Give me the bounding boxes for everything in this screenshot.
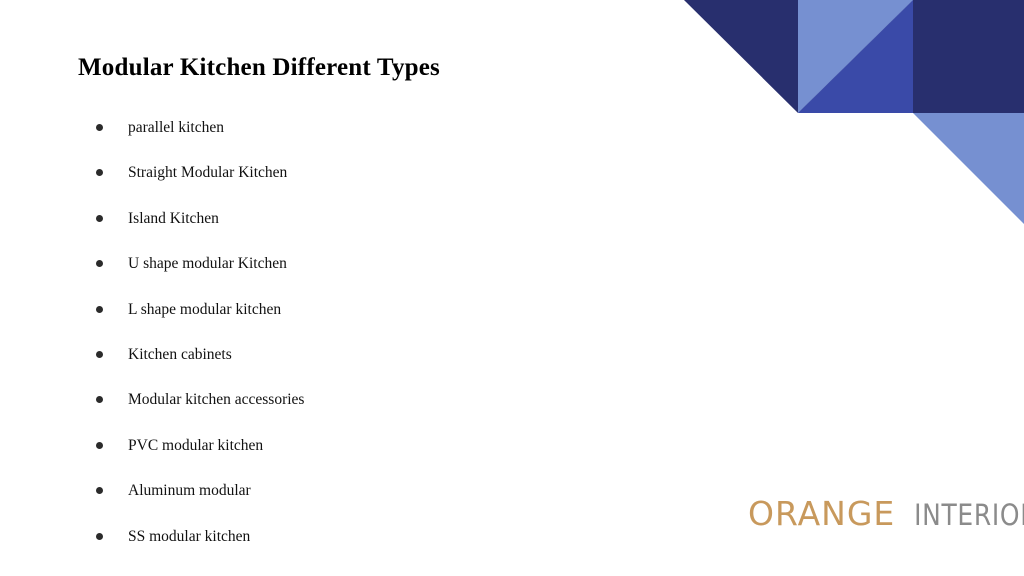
navy-block-right [913,0,1024,113]
list-item: Aluminum modular [92,478,652,523]
bullet-icon [96,306,103,313]
bullet-icon [96,396,103,403]
list-item-label: L shape modular kitchen [128,297,281,323]
page-title: Modular Kitchen Different Types [78,54,440,82]
bullet-icon [96,169,103,176]
list-item: SS modular kitchen [92,524,652,569]
slide-canvas: Modular Kitchen Different Types parallel… [0,0,1024,576]
list-item-label: Aluminum modular [128,478,251,504]
list-item: U shape modular Kitchen [92,251,652,296]
bullet-icon [96,487,103,494]
light-blue-lower-right-triangle [913,113,1024,224]
list-item: PVC modular kitchen [92,433,652,478]
bullet-icon [96,260,103,267]
list-item-label: U shape modular Kitchen [128,251,287,277]
brand-name-primary: ORANGE [748,494,895,533]
list-item: Kitchen cabinets [92,342,652,387]
list-item: L shape modular kitchen [92,297,652,342]
list-item-label: Island Kitchen [128,206,219,232]
navy-triangle-left [684,0,913,113]
list-item: Modular kitchen accessories [92,387,652,432]
medium-blue-lower-triangle [798,0,913,113]
kitchen-types-list: parallel kitchen Straight Modular Kitche… [92,115,652,569]
list-item-label: SS modular kitchen [128,524,250,550]
list-item-label: Modular kitchen accessories [128,387,304,413]
list-item-label: parallel kitchen [128,115,224,141]
list-item: Island Kitchen [92,206,652,251]
bullet-icon [96,533,103,540]
light-blue-upper-triangle [798,0,913,113]
list-item-label: Straight Modular Kitchen [128,160,287,186]
list-item: Straight Modular Kitchen [92,160,652,205]
list-item-label: Kitchen cabinets [128,342,232,368]
brand-name-secondary: INTERIOR [914,498,1024,532]
bullet-icon [96,215,103,222]
bullet-icon [96,124,103,131]
brand-logo: ORANGE INTERIOR ® [748,494,1024,534]
bullet-icon [96,351,103,358]
geometric-corner-accent [660,0,1024,240]
bullet-icon [96,442,103,449]
list-item: parallel kitchen [92,115,652,160]
list-item-label: PVC modular kitchen [128,433,263,459]
